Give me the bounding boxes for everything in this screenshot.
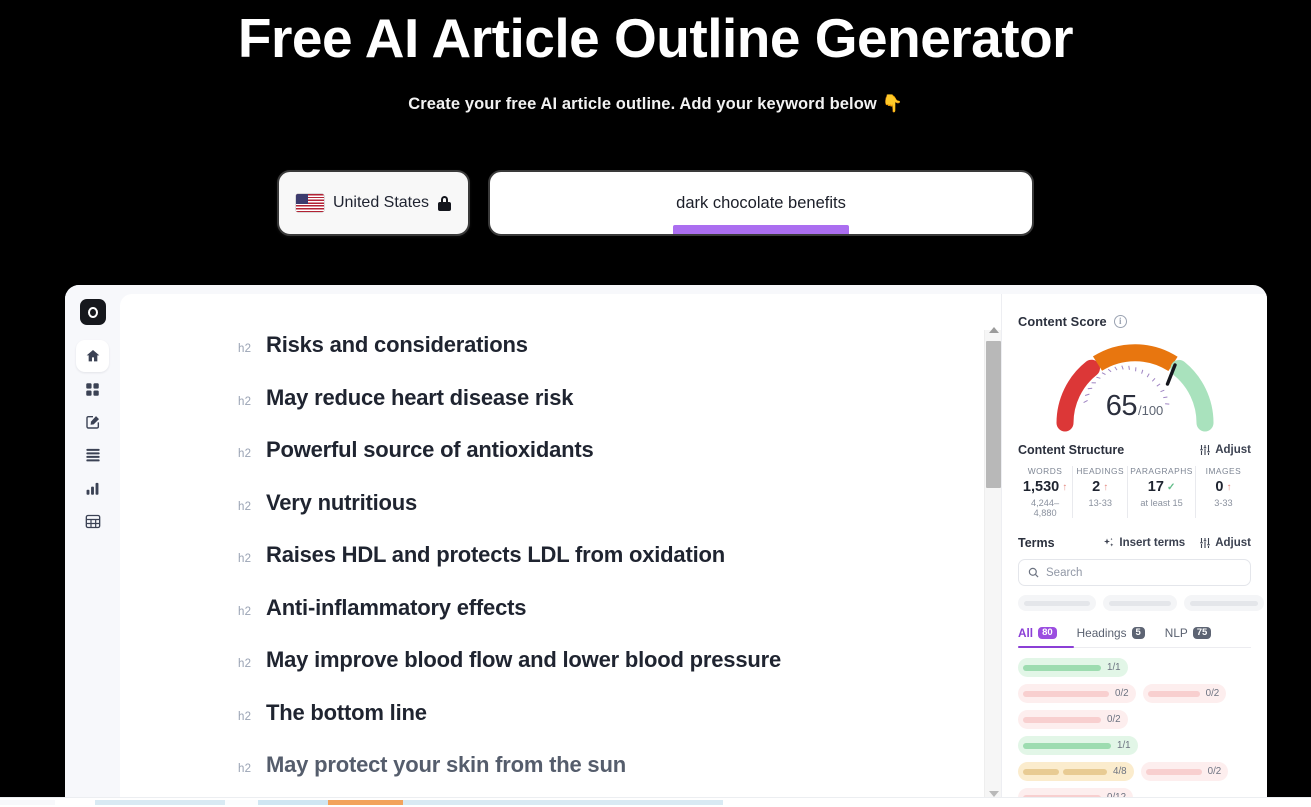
editor-scrollbar[interactable] [984,330,1001,797]
lock-icon [438,196,451,211]
hero-section: Free AI Article Outline Generator Create… [0,0,1311,114]
outline-editor: h2Risks and considerationsh2May reduce h… [120,294,1001,807]
term-text-redacted [1023,769,1059,775]
info-icon[interactable]: i [1114,315,1127,328]
term-text-redacted [1023,743,1111,749]
tab-count-badge: 5 [1132,627,1145,640]
editor-bottom-toolbar[interactable] [0,797,1311,807]
arrow-up-icon: ↑ [1062,482,1067,493]
heading-text[interactable]: The bottom line [266,700,427,726]
content-score-title: Content Score [1018,314,1107,329]
country-label: United States [333,194,429,212]
metric-label: WORDS [1020,466,1070,476]
arrow-up-icon: ↑ [1226,482,1231,493]
metric-label: PARAGRAPHS [1130,466,1193,476]
content-score-header: Content Score i [1018,314,1251,329]
sidebar-rail [65,285,120,807]
terms-actions: Insert terms Adjust [1103,537,1251,549]
tab-label: Headings [1077,626,1127,640]
term-usage-count: 0/2 [1206,688,1220,699]
bottom-seg-a [55,800,95,805]
terms-adjust-label: Adjust [1215,537,1251,549]
metric-range: 13-33 [1075,498,1125,508]
term-usage-count: 0/2 [1107,714,1121,725]
search-row: United States [0,170,1311,236]
metric-label: IMAGES [1198,466,1249,476]
gauge-score-value: 65 /100 [1106,390,1164,423]
bottom-seg-rail [0,800,55,805]
sidebar-item-analytics[interactable] [76,472,109,504]
metric-number: 17 [1148,479,1164,495]
heading-text[interactable]: Risks and considerations [266,332,528,358]
term-usage-count: 1/1 [1107,662,1121,673]
metric-cell: PARAGRAPHS17✓at least 15 [1128,466,1196,518]
sidebar-item-editor[interactable] [76,406,109,438]
bottom-seg-highlight [328,800,403,805]
heading-level-label: h2 [238,396,256,408]
heading-text[interactable]: May reduce heart disease risk [266,385,573,411]
outline-heading-row[interactable]: h2Risks and considerations [238,332,979,385]
outline-heading-row[interactable]: h2The bottom line [238,700,979,753]
metric-range: at least 15 [1130,498,1193,508]
term-usage-count: 0/2 [1115,688,1129,699]
term-pill[interactable]: 0/2 [1018,710,1128,729]
insert-terms-label: Insert terms [1119,537,1185,549]
tab-count-badge: 80 [1038,627,1057,640]
term-usage-count: 1/1 [1117,740,1131,751]
sparkle-icon [1103,537,1115,549]
metric-number: 2 [1092,479,1100,495]
app-logo-icon[interactable] [80,299,106,325]
heading-text[interactable]: Very nutritious [266,490,417,516]
bottom-seg-c [225,800,258,805]
home-icon [85,348,101,364]
term-pill[interactable]: 1/1 [1018,736,1138,755]
term-usage-count: 0/2 [1208,766,1222,777]
country-selector[interactable]: United States [277,170,470,236]
table-icon [85,514,101,529]
bar-chart-icon [85,481,100,496]
term-usage-count: 4/8 [1113,766,1127,777]
metric-label: HEADINGS [1075,466,1125,476]
scroll-up-arrow-icon[interactable] [985,322,1001,337]
content-structure-metrics: WORDS1,530↑4,244–4,880HEADINGS2↑13-33PAR… [1018,466,1251,518]
term-text-redacted [1063,769,1107,775]
insert-terms-button[interactable]: Insert terms [1103,537,1185,549]
search-icon [1028,567,1039,578]
sidebar-item-outline[interactable] [76,439,109,471]
terms-header: Terms Insert terms [1018,536,1251,550]
heading-text[interactable]: Powerful source of antioxidants [266,437,594,463]
content-score-panel: Content Score i 65 /100 [1001,294,1267,807]
term-pill[interactable]: 1/1 [1018,658,1128,677]
outline-heading-row[interactable]: h2May improve blood flow and lower blood… [238,647,979,700]
heading-text[interactable]: May improve blood flow and lower blood p… [266,647,781,673]
metric-range: 3-33 [1198,498,1249,508]
keyword-underline [673,225,849,234]
outline-heading-row[interactable]: h2Anti-inflammatory effects [238,595,979,648]
sidebar-item-home[interactable] [76,340,109,372]
outline-heading-row[interactable]: h2Very nutritious [238,490,979,543]
adjust-label: Adjust [1215,444,1251,456]
metric-number: 0 [1215,479,1223,495]
heading-text[interactable]: Raises HDL and protects LDL from oxidati… [266,542,725,568]
content-structure-adjust-button[interactable]: Adjust [1199,444,1251,456]
metric-cell: IMAGES0↑3-33 [1196,466,1251,518]
metric-number: 1,530 [1023,479,1059,495]
content-score-gauge: 65 /100 [1018,333,1251,429]
content-structure-title: Content Structure [1018,443,1124,457]
filter-chip-skeleton[interactable] [1103,595,1177,611]
term-text-redacted [1023,717,1101,723]
filter-chip-skeleton[interactable] [1184,595,1264,611]
bottom-seg-f [723,800,1311,805]
term-pill[interactable]: 0/2 [1018,684,1136,703]
term-pill[interactable]: 4/8 [1018,762,1134,781]
page-subtitle: Create your free AI article outline. Add… [0,94,1311,114]
outline-heading-row[interactable]: h2Raises HDL and protects LDL from oxida… [238,542,979,595]
heading-level-label: h2 [238,658,256,670]
keyword-input[interactable] [490,194,1032,213]
metric-cell: WORDS1,530↑4,244–4,880 [1018,466,1073,518]
app-window: h2Risks and considerationsh2May reduce h… [65,285,1267,807]
heading-level-label: h2 [238,606,256,618]
heading-text[interactable]: Anti-inflammatory effects [266,595,526,621]
filter-chip-skeleton[interactable] [1018,595,1096,611]
page-subtitle-text: Create your free AI article outline. Add… [408,95,877,113]
outline-heading-row[interactable]: h2Powerful source of antioxidants [238,437,979,490]
term-text-redacted [1023,691,1109,697]
heading-level-label: h2 [238,501,256,513]
heading-level-label: h2 [238,711,256,723]
terms-title: Terms [1018,536,1055,550]
bottom-seg-d [258,800,328,805]
score-number: 65 [1106,390,1137,423]
term-text-redacted [1146,769,1202,775]
metric-value: 1,530↑ [1020,479,1070,495]
metric-value: 17✓ [1130,479,1193,495]
page-title: Free AI Article Outline Generator [0,4,1311,72]
term-text-redacted [1023,665,1101,671]
pointing-down-emoji-icon: 👇 [882,94,903,113]
score-denominator: /100 [1138,403,1163,418]
scrollbar-thumb[interactable] [986,341,1001,488]
term-text-redacted [1148,691,1200,697]
tab-label: NLP [1165,626,1188,640]
terms-adjust-button[interactable]: Adjust [1199,537,1251,549]
tab-nlp[interactable]: NLP75 [1165,626,1212,647]
check-icon: ✓ [1167,482,1175,493]
tab-label: All [1018,626,1033,640]
tab-all[interactable]: All80 [1018,626,1057,647]
sidebar-item-dashboard[interactable] [76,373,109,405]
page-root: Free AI Article Outline Generator Create… [0,0,1311,807]
terms-search-input[interactable]: Search [1018,559,1251,586]
metric-cell: HEADINGS2↑13-33 [1073,466,1128,518]
terms-filter-skeletons [1018,595,1251,611]
bottom-seg-e [403,800,723,805]
sliders-icon [1199,444,1211,456]
keyword-input-wrapper[interactable] [488,170,1034,236]
term-pill[interactable]: 0/2 [1141,762,1229,781]
outline-heading-row[interactable]: h2May reduce heart disease risk [238,385,979,438]
metric-value: 0↑ [1198,479,1249,495]
outline-list: h2Risks and considerationsh2May reduce h… [120,294,979,807]
metric-range: 4,244–4,880 [1020,498,1070,518]
us-flag-icon [296,194,324,212]
sliders-icon [1199,537,1211,549]
grid-icon [85,382,100,397]
lines-icon [85,448,101,463]
bottom-seg-b [95,800,225,805]
heading-level-label: h2 [238,553,256,565]
arrow-up-icon: ↑ [1103,482,1108,493]
heading-level-label: h2 [238,448,256,460]
term-pill[interactable]: 0/2 [1143,684,1227,703]
terms-pill-list: 1/10/20/20/21/14/80/20/121/20/40/60/21/1… [1018,658,1251,807]
terms-search-placeholder: Search [1046,567,1082,579]
heading-level-label: h2 [238,763,256,775]
tab-count-badge: 75 [1193,627,1212,640]
edit-square-icon [85,414,101,430]
terms-tabs: All80Headings5NLP75 [1018,626,1251,648]
heading-text[interactable]: May protect your skin from the sun [266,752,626,778]
tab-headings[interactable]: Headings5 [1077,626,1145,647]
content-structure-header: Content Structure Adjust [1018,443,1251,457]
sidebar-item-table[interactable] [76,505,109,537]
heading-level-label: h2 [238,343,256,355]
metric-value: 2↑ [1075,479,1125,495]
